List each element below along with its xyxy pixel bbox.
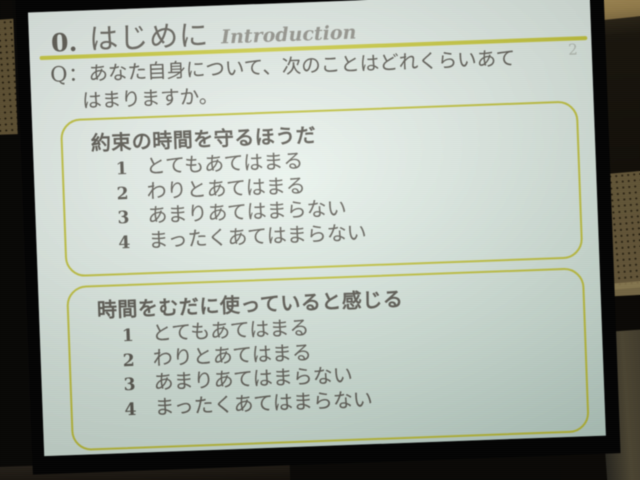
question-item-box-1: 約束の時間を守るほうだ 1 とてもあてはまる 2 わりとあてはまる 3 あまりあ…	[60, 100, 583, 277]
option-number: 3	[123, 374, 154, 395]
option-number: 4	[118, 232, 149, 253]
option-number: 1	[115, 158, 146, 179]
option-number: 3	[117, 207, 148, 228]
screen-surface: 0. はじめに Introduction 2 Q ： あなた自身について、次のこ…	[28, 0, 606, 456]
option-number: 2	[122, 350, 153, 371]
option-number: 2	[116, 183, 147, 204]
question-item-box-2: 時間をむだに使っていると感じる 1 とてもあてはまる 2 わりとあてはまる 3 …	[66, 267, 590, 451]
option-number: 1	[122, 325, 153, 346]
question-marker: Q	[50, 61, 68, 89]
photo-of-projected-slide: 0. はじめに Introduction 2 Q ： あなた自身について、次のこ…	[0, 0, 640, 480]
projection-screen: 0. はじめに Introduction 2 Q ： あなた自身について、次のこ…	[15, 0, 620, 475]
title-number: 0.	[51, 30, 78, 56]
slide-content: 0. はじめに Introduction 2 Q ： あなた自身について、次のこ…	[28, 0, 606, 456]
question-colon: ：	[67, 62, 89, 88]
option-number: 4	[124, 399, 155, 420]
title-main: はじめに	[89, 21, 210, 54]
